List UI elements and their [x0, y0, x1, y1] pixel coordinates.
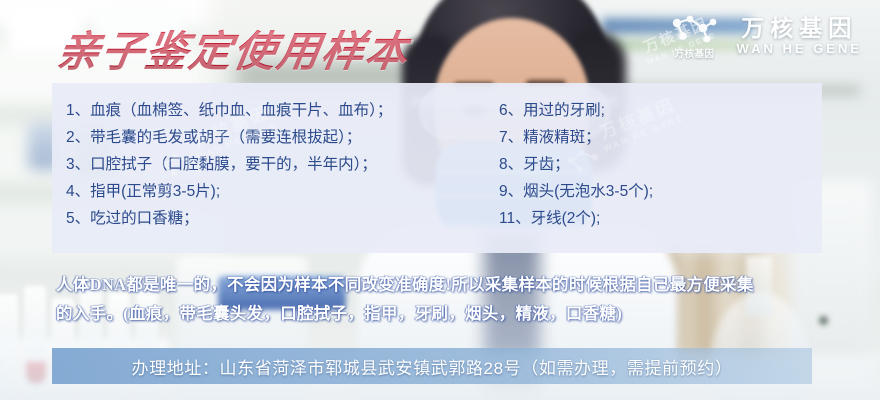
list-item: 7、精液精斑； — [499, 124, 822, 151]
list-item: 8、牙齿； — [499, 151, 822, 178]
note-paragraph: 人体DNA都是唯一的，不会因为样本不同改变准确度!所以采集样本的时候根据自己最方… — [56, 270, 840, 328]
page-title: 亲子鉴定使用样本 — [53, 18, 415, 79]
list-item: 4、指甲(正常剪3-5片); — [66, 178, 487, 205]
note-line-1: 人体DNA都是唯一的，不会因为样本不同改变准确度!所以采集样本的时候根据自己最方… — [56, 270, 840, 299]
brand-mark-label: 万核基因 — [675, 46, 715, 60]
brand-logo: 万核基因 万核基因 WAN HE GENE — [669, 14, 862, 60]
brand-wordmark: 万核基因 WAN HE GENE — [737, 16, 862, 58]
list-item: 9、烟头(无泡水3-5个); — [499, 178, 822, 205]
sample-list-right-column: 6、用过的牙刷; 7、精液精斑； 8、牙齿； 9、烟头(无泡水3-5个); 11… — [487, 83, 822, 253]
list-item: 3、口腔拭子（口腔黏膜，要干的，半年内）； — [66, 151, 487, 178]
address-bar: 办理地址：山东省菏泽市郓城县武安镇武郭路28号（如需办理，需提前预约） — [52, 348, 812, 384]
address-text: 办理地址：山东省菏泽市郓城县武安镇武郭路28号（如需办理，需提前预约） — [132, 354, 733, 379]
molecule-icon — [669, 14, 721, 44]
list-item: 6、用过的牙刷; — [499, 97, 822, 124]
sample-list-panel: 1、血痕（血棉签、纸巾血、血痕干片、血布）； 2、带毛囊的毛发或胡子（需要连根拔… — [52, 83, 822, 253]
list-item: 1、血痕（血棉签、纸巾血、血痕干片、血布）； — [66, 97, 487, 124]
brand-name-en: WAN HE GENE — [737, 41, 862, 58]
poster-banner: 亲子鉴定使用样本 万核基因 — [0, 0, 880, 400]
list-item: 5、吃过的口香糖； — [66, 205, 487, 232]
brand-name-cn: 万核基因 — [741, 16, 857, 41]
list-item: 2、带毛囊的毛发或胡子（需要连根拔起）； — [66, 124, 487, 151]
list-item: 11、牙线(2个); — [499, 205, 822, 232]
note-line-2: 的入手。(血痕，带毛囊头发，口腔拭子，指甲，牙刷，烟头，精液，口香糖) — [56, 299, 840, 328]
brand-mark: 万核基因 — [669, 14, 721, 60]
sample-list-left-column: 1、血痕（血棉签、纸巾血、血痕干片、血布）； 2、带毛囊的毛发或胡子（需要连根拔… — [52, 83, 487, 253]
